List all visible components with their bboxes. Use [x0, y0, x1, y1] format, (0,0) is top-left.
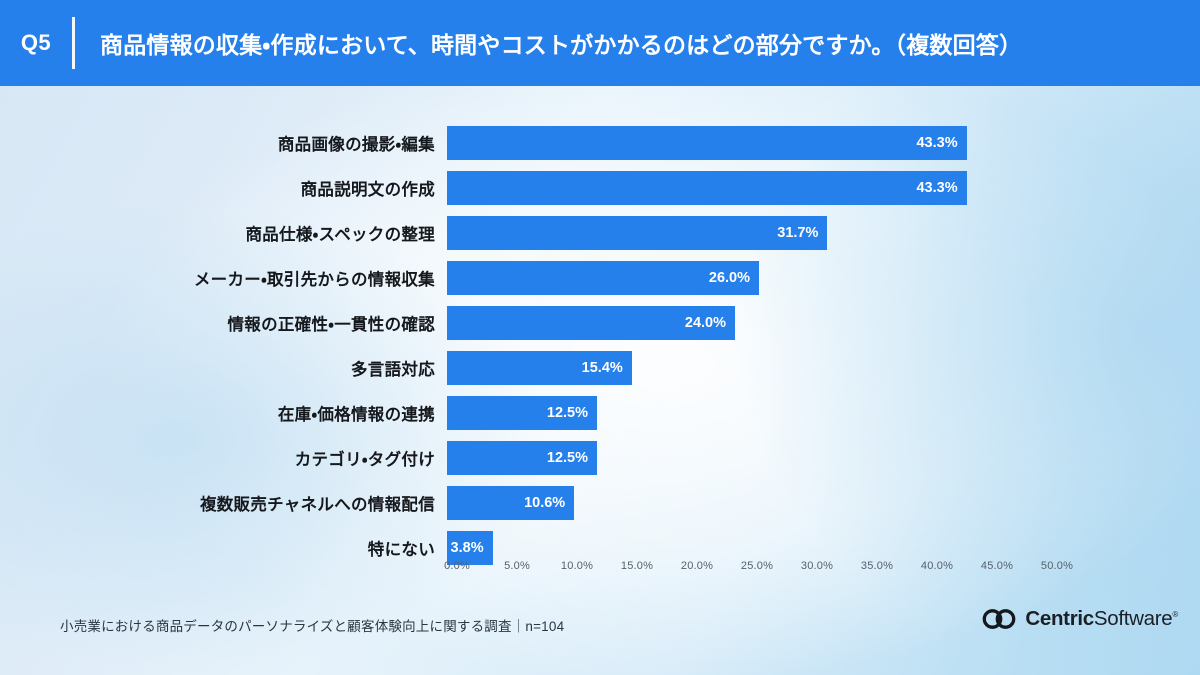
bar-category-label: 情報の正確性・一貫性の確認 [0, 311, 447, 335]
question-number: Q5 [0, 30, 72, 56]
bar-row: カテゴリ・タグ付け12.5% [0, 437, 1200, 478]
x-axis-tick: 45.0% [981, 560, 1013, 572]
x-axis-tick: 30.0% [801, 560, 833, 572]
bar-value-label: 10.6% [524, 495, 565, 511]
bar[interactable]: 43.3% [447, 171, 967, 205]
bar-category-label: メーカー・取引先からの情報収集 [0, 266, 447, 290]
bar-value-label: 43.3% [916, 135, 957, 151]
logo-wordmark: CentricSoftware® [1025, 607, 1178, 631]
bar[interactable]: 24.0% [447, 306, 735, 340]
logo-brand-bold: Centric [1025, 607, 1094, 630]
x-axis-tick: 5.0% [504, 560, 530, 572]
bar-track: 24.0% [447, 306, 1200, 340]
bar[interactable]: 12.5% [447, 396, 597, 430]
bar-row: 商品画像の撮影・編集43.3% [0, 122, 1200, 163]
bar-value-label: 24.0% [685, 315, 726, 331]
bar-track: 26.0% [447, 261, 1200, 295]
bar[interactable]: 31.7% [447, 216, 827, 250]
x-axis-tick: 20.0% [681, 560, 713, 572]
bar-category-label: 複数販売チャネルへの情報配信 [0, 491, 447, 515]
bar-value-label: 31.7% [777, 225, 818, 241]
x-axis-tick: 15.0% [621, 560, 653, 572]
bar-value-label: 43.3% [916, 180, 957, 196]
bar[interactable]: 10.6% [447, 486, 574, 520]
bar-category-label: 商品仕様・スペックの整理 [0, 221, 447, 245]
bar-category-label: 商品画像の撮影・編集 [0, 131, 447, 155]
bar-track: 43.3% [447, 126, 1200, 160]
bar-category-label: 商品説明文の作成 [0, 176, 447, 200]
bar-value-label: 15.4% [582, 360, 623, 376]
x-axis-tick: 35.0% [861, 560, 893, 572]
bar-category-label: 多言語対応 [0, 356, 447, 380]
bar-category-label: カテゴリ・タグ付け [0, 446, 447, 470]
bar-track: 12.5% [447, 441, 1200, 475]
x-axis-tick: 40.0% [921, 560, 953, 572]
bar-track: 43.3% [447, 171, 1200, 205]
x-axis: 0.0%5.0%10.0%15.0%20.0%25.0%30.0%35.0%40… [457, 560, 1057, 582]
bar-track: 15.4% [447, 351, 1200, 385]
bar-row: 在庫・価格情報の連携12.5% [0, 392, 1200, 433]
bar-value-label: 12.5% [547, 450, 588, 466]
bar-chart: 商品画像の撮影・編集43.3%商品説明文の作成43.3%商品仕様・スペックの整理… [0, 86, 1200, 586]
slide-canvas: Q5 商品情報の収集・作成において、時間やコストがかかるのはどの部分ですか。（複… [0, 0, 1200, 675]
bar-row: 情報の正確性・一貫性の確認24.0% [0, 302, 1200, 343]
bar-row: 商品説明文の作成43.3% [0, 167, 1200, 208]
slide-header: Q5 商品情報の収集・作成において、時間やコストがかかるのはどの部分ですか。（複… [0, 0, 1200, 86]
bar[interactable]: 15.4% [447, 351, 632, 385]
x-axis-tick: 25.0% [741, 560, 773, 572]
logo-brand-light: Software [1094, 607, 1173, 630]
bar-track: 31.7% [447, 216, 1200, 250]
centric-software-logo: CentricSoftware® [982, 607, 1178, 631]
logo-trademark: ® [1172, 610, 1178, 619]
interlocking-circles-icon [982, 609, 1016, 629]
bar-row: メーカー・取引先からの情報収集26.0% [0, 257, 1200, 298]
bar-rows: 商品画像の撮影・編集43.3%商品説明文の作成43.3%商品仕様・スペックの整理… [0, 122, 1200, 572]
bar-category-label: 特にない [0, 536, 447, 560]
x-axis-tick: 10.0% [561, 560, 593, 572]
x-axis-tick: 50.0% [1041, 560, 1073, 572]
source-note: 小売業における商品データのパーソナライズと顧客体験向上に関する調査｜n=104 [60, 615, 564, 635]
x-axis-tick: 0.0% [444, 560, 470, 572]
bar-value-label: 12.5% [547, 405, 588, 421]
bar-track: 12.5% [447, 396, 1200, 430]
bar[interactable]: 43.3% [447, 126, 967, 160]
bar-category-label: 在庫・価格情報の連携 [0, 401, 447, 425]
bar-value-label: 3.8% [451, 540, 484, 556]
bar[interactable]: 26.0% [447, 261, 759, 295]
slide-footer: 小売業における商品データのパーソナライズと顧客体験向上に関する調査｜n=104 … [0, 595, 1200, 675]
bar-track: 10.6% [447, 486, 1200, 520]
question-title: 商品情報の収集・作成において、時間やコストがかかるのはどの部分ですか。（複数回答… [100, 26, 1022, 60]
bar-row: 多言語対応15.4% [0, 347, 1200, 388]
header-divider [72, 17, 75, 69]
bar[interactable]: 12.5% [447, 441, 597, 475]
bar-value-label: 26.0% [709, 270, 750, 286]
bar-row: 商品仕様・スペックの整理31.7% [0, 212, 1200, 253]
bar-row: 複数販売チャネルへの情報配信10.6% [0, 482, 1200, 523]
